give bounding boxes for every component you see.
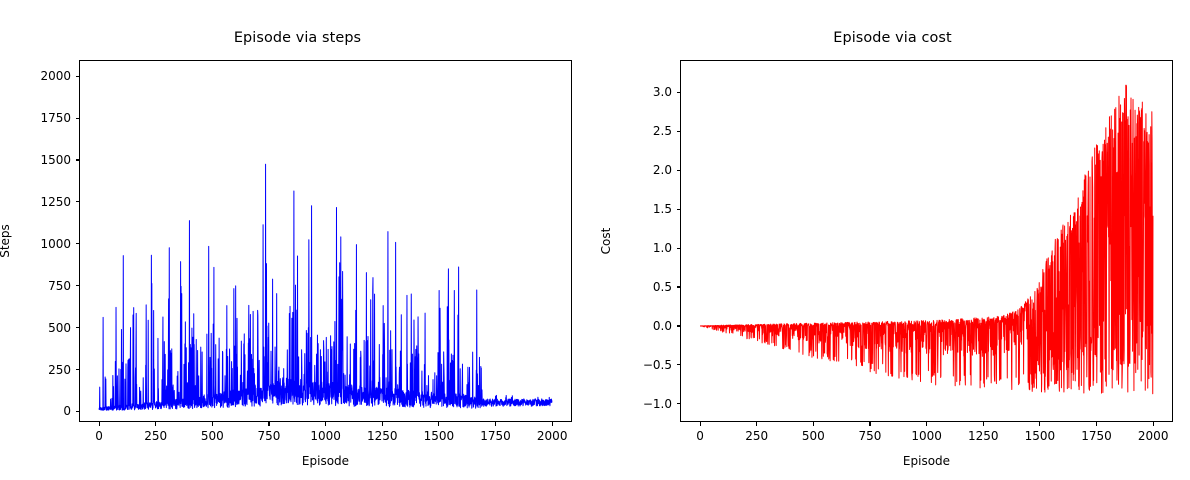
- x-tick-mark: [1153, 422, 1154, 426]
- x-tick-label: 250: [745, 429, 768, 443]
- x-tick-mark: [325, 422, 326, 426]
- x-tick-mark: [382, 422, 383, 426]
- x-tick-mark: [438, 422, 439, 426]
- y-tick-label: 1.0: [624, 241, 672, 255]
- y-tick-mark: [76, 76, 80, 77]
- y-tick-mark: [76, 327, 80, 328]
- y-tick-mark: [76, 159, 80, 160]
- plot-area-left: [79, 60, 572, 422]
- y-tick-mark: [677, 248, 681, 249]
- y-axis-label-left: Steps: [0, 224, 12, 258]
- y-tick-mark: [677, 131, 681, 132]
- y-tick-label: 2.5: [624, 124, 672, 138]
- x-tick-label: 750: [859, 429, 882, 443]
- x-tick-label: 500: [201, 429, 224, 443]
- x-tick-mark: [1096, 422, 1097, 426]
- x-tick-mark: [155, 422, 156, 426]
- plot-series-cost: [681, 61, 1172, 421]
- x-axis-label-left: Episode: [79, 454, 572, 468]
- x-tick-mark: [99, 422, 100, 426]
- y-tick-label: 1250: [23, 195, 71, 209]
- x-tick-label: 1000: [911, 429, 942, 443]
- y-tick-mark: [677, 209, 681, 210]
- plot-area-right: [680, 60, 1173, 422]
- x-tick-label: 250: [144, 429, 167, 443]
- x-tick-label: 1750: [1081, 429, 1112, 443]
- y-tick-label: 3.0: [624, 85, 672, 99]
- x-tick-mark: [869, 422, 870, 426]
- y-axis-label-right: Cost: [599, 228, 613, 255]
- x-tick-label: 0: [95, 429, 103, 443]
- x-axis-label-right: Episode: [680, 454, 1173, 468]
- x-tick-label: 500: [802, 429, 825, 443]
- y-tick-label: 0.0: [624, 319, 672, 333]
- y-tick-mark: [76, 243, 80, 244]
- y-tick-label: 1000: [23, 237, 71, 251]
- x-tick-mark: [552, 422, 553, 426]
- x-tick-label: 750: [258, 429, 281, 443]
- x-tick-mark: [268, 422, 269, 426]
- x-tick-label: 1500: [1025, 429, 1056, 443]
- y-tick-label: 750: [23, 279, 71, 293]
- x-tick-mark: [983, 422, 984, 426]
- y-tick-label: 2000: [23, 69, 71, 83]
- y-tick-mark: [677, 286, 681, 287]
- x-tick-label: 2000: [537, 429, 568, 443]
- chart-title-left: Episode via steps: [0, 30, 595, 46]
- y-tick-mark: [677, 170, 681, 171]
- y-tick-label: −0.5: [624, 358, 672, 372]
- x-tick-label: 1250: [968, 429, 999, 443]
- chart-panel-episode-via-cost: Episode via cost −1.0−0.50.00.51.01.52.0…: [595, 0, 1190, 480]
- chart-title-right: Episode via cost: [595, 30, 1190, 46]
- y-tick-mark: [76, 118, 80, 119]
- y-tick-mark: [76, 369, 80, 370]
- y-tick-label: 1.5: [624, 202, 672, 216]
- y-tick-mark: [677, 325, 681, 326]
- y-tick-mark: [76, 201, 80, 202]
- x-tick-label: 1000: [310, 429, 341, 443]
- x-tick-mark: [813, 422, 814, 426]
- matplotlib-figure: Episode via steps 0250500750100012501500…: [0, 0, 1190, 480]
- plot-series-steps: [80, 61, 571, 421]
- x-tick-label: 1500: [424, 429, 455, 443]
- x-tick-mark: [926, 422, 927, 426]
- y-tick-label: 0.5: [624, 280, 672, 294]
- chart-panel-episode-via-steps: Episode via steps 0250500750100012501500…: [0, 0, 595, 480]
- y-tick-label: 1750: [23, 111, 71, 125]
- y-tick-mark: [76, 411, 80, 412]
- y-tick-label: 2.0: [624, 163, 672, 177]
- x-tick-label: 1750: [480, 429, 511, 443]
- x-tick-mark: [756, 422, 757, 426]
- y-tick-label: 250: [23, 363, 71, 377]
- y-tick-mark: [76, 285, 80, 286]
- x-tick-mark: [1039, 422, 1040, 426]
- y-tick-mark: [677, 403, 681, 404]
- x-tick-mark: [495, 422, 496, 426]
- x-tick-mark: [212, 422, 213, 426]
- y-tick-label: −1.0: [624, 397, 672, 411]
- y-tick-label: 0: [23, 404, 71, 418]
- x-tick-label: 0: [696, 429, 704, 443]
- y-tick-label: 500: [23, 321, 71, 335]
- x-tick-label: 2000: [1138, 429, 1169, 443]
- y-tick-label: 1500: [23, 153, 71, 167]
- x-tick-label: 1250: [367, 429, 398, 443]
- y-tick-mark: [677, 92, 681, 93]
- x-tick-mark: [700, 422, 701, 426]
- y-tick-mark: [677, 364, 681, 365]
